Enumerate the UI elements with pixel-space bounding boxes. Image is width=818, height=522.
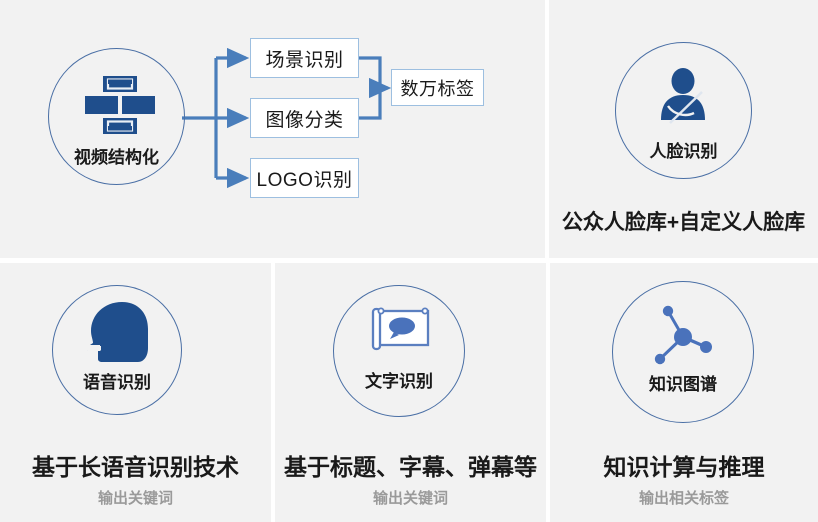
panel-text-recognition: 文字识别 基于标题、字幕、弹幕等 输出关键词 (275, 263, 546, 522)
circle-label-video-structure: 视频结构化 (48, 143, 185, 168)
circle-label-knowledge-graph: 知识图谱 (612, 370, 754, 395)
circle-label-speech-recognition: 语音识别 (52, 368, 182, 393)
circle-label-face-recognition: 人脸识别 (615, 137, 752, 162)
subcaption-knowledge-graph: 输出相关标签 (550, 487, 818, 508)
panel-speech-recognition: 语音识别 基于长语音识别技术 输出关键词 (0, 263, 271, 522)
subcaption-speech-recognition: 输出关键词 (0, 487, 271, 508)
subcaption-text-recognition: 输出关键词 (275, 487, 546, 508)
circle-knowledge-graph (612, 281, 754, 423)
panel-face-recognition: 人脸识别 公众人脸库+自定义人脸库 (549, 0, 818, 258)
caption-face-recognition: 公众人脸库+自定义人脸库 (549, 206, 818, 236)
circle-label-text-recognition: 文字识别 (333, 367, 465, 392)
panel-video-structure: 视频结构化 场景识别 图像分类 LOGO识别 数万标签 (0, 0, 545, 258)
flow-box-logo[interactable]: LOGO识别 (250, 158, 359, 198)
circle-speech-recognition (52, 285, 182, 415)
circle-text-recognition (333, 285, 465, 417)
caption-knowledge-graph: 知识计算与推理 (550, 448, 818, 482)
caption-text-recognition: 基于标题、字幕、弹幕等 (275, 448, 546, 482)
flow-box-image[interactable]: 图像分类 (250, 98, 359, 138)
caption-speech-recognition: 基于长语音识别技术 (0, 448, 271, 482)
flow-box-scene[interactable]: 场景识别 (250, 38, 359, 78)
infographic-board: 视频结构化 场景识别 图像分类 LOGO识别 数万标签 人脸识别 公众人脸库+自… (0, 0, 818, 522)
flow-box-tags[interactable]: 数万标签 (391, 69, 484, 106)
panel-knowledge-graph: 知识图谱 知识计算与推理 输出相关标签 (550, 263, 818, 522)
